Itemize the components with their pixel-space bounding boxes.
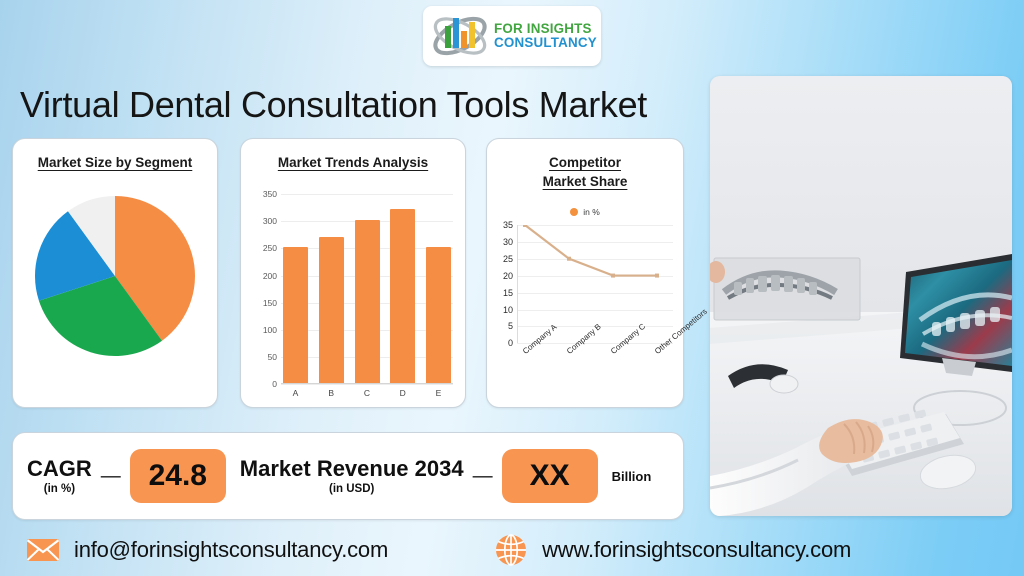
logo-line-2: CONSULTANCY xyxy=(494,36,597,50)
x-tick-label: A xyxy=(283,388,308,398)
cagr-label-block: CAGR (in %) xyxy=(27,457,92,494)
bar-chart-title: Market Trends Analysis xyxy=(241,153,465,172)
pie-chart-svg xyxy=(29,190,201,362)
y-tick-label: 20 xyxy=(493,271,513,281)
y-tick-label: 100 xyxy=(249,325,277,335)
y-tick-label: 200 xyxy=(249,271,277,281)
revenue-label-block: Market Revenue 2034 (in USD) xyxy=(240,457,464,494)
footer-email-text: info@forinsightsconsultancy.com xyxy=(74,537,388,563)
card-competitor-market-share: Competitor Market Share in % 05101520253… xyxy=(486,138,684,408)
y-tick-label: 0 xyxy=(493,338,513,348)
y-tick-label: 10 xyxy=(493,305,513,315)
line-chart: 05101520253035 Company ACompany BCompany… xyxy=(493,225,675,343)
logo-line-1: FOR INSIGHTS xyxy=(494,22,597,36)
revenue-label: Market Revenue 2034 xyxy=(240,457,464,480)
y-tick-label: 25 xyxy=(493,254,513,264)
y-tick-label: 350 xyxy=(249,189,277,199)
bar xyxy=(426,247,451,383)
y-tick-label: 30 xyxy=(493,237,513,247)
bar xyxy=(319,237,344,384)
legend-label: in % xyxy=(583,207,600,217)
line-series-path xyxy=(525,225,657,276)
bar xyxy=(390,209,415,383)
x-tick-label: B xyxy=(319,388,344,398)
hero-photo-illustration xyxy=(710,76,1012,516)
card-market-size-by-segment: Market Size by Segment xyxy=(12,138,218,408)
cagr-sublabel: (in %) xyxy=(27,483,92,495)
card-key-metrics: CAGR (in %) — 24.8 Market Revenue 2034 (… xyxy=(12,432,684,520)
y-tick-label: 50 xyxy=(249,352,277,362)
line-data-point xyxy=(655,274,659,278)
infographic-root: FOR INSIGHTS CONSULTANCY Virtual Dental … xyxy=(0,0,1024,576)
revenue-unit: Billion xyxy=(612,469,652,484)
cagr-dash: — xyxy=(101,465,121,488)
globe-icon xyxy=(494,533,528,567)
line-chart-title: Competitor Market Share xyxy=(487,153,683,191)
hero-photo xyxy=(710,76,1012,516)
y-tick-label: 250 xyxy=(249,243,277,253)
x-tick-label: D xyxy=(390,388,415,398)
card-market-trends-analysis: Market Trends Analysis 05010015020025030… xyxy=(240,138,466,408)
gridline xyxy=(281,384,453,385)
bar-chart-bars xyxy=(283,194,451,383)
footer-email[interactable]: info@forinsightsconsultancy.com xyxy=(26,533,388,567)
y-tick-label: 300 xyxy=(249,216,277,226)
y-tick-label: 150 xyxy=(249,298,277,308)
revenue-sublabel: (in USD) xyxy=(240,483,464,495)
pie-chart xyxy=(13,190,217,362)
bar-chart-orbit-logo-icon xyxy=(429,10,491,62)
bar xyxy=(283,247,308,383)
y-tick-label: 35 xyxy=(493,220,513,230)
y-tick-label: 0 xyxy=(249,379,277,389)
line-data-point xyxy=(611,274,615,278)
footer-website[interactable]: www.forinsightsconsultancy.com xyxy=(494,533,851,567)
bar-chart: 050100150200250300350 ABCDE xyxy=(249,194,455,384)
bar-chart-x-axis xyxy=(281,383,453,384)
page-title: Virtual Dental Consultation Tools Market xyxy=(20,84,647,126)
pie-chart-title: Market Size by Segment xyxy=(13,153,217,172)
line-chart-legend: in % xyxy=(487,207,683,217)
legend-swatch-icon xyxy=(570,208,578,216)
bar-chart-x-labels: ABCDE xyxy=(283,388,451,398)
line-chart-title-line-2: Market Share xyxy=(543,174,628,189)
company-logo: FOR INSIGHTS CONSULTANCY xyxy=(423,6,601,66)
revenue-dash: — xyxy=(473,465,493,488)
footer-website-text: www.forinsightsconsultancy.com xyxy=(542,537,851,563)
y-tick-label: 5 xyxy=(493,321,513,331)
cagr-value-pill: 24.8 xyxy=(130,449,226,503)
cagr-label: CAGR xyxy=(27,457,92,480)
envelope-icon xyxy=(26,533,60,567)
logo-wordmark: FOR INSIGHTS CONSULTANCY xyxy=(494,22,597,50)
x-tick-label: E xyxy=(426,388,451,398)
line-data-point xyxy=(523,225,527,227)
y-tick-label: 15 xyxy=(493,288,513,298)
line-chart-title-line-1: Competitor xyxy=(549,155,621,170)
x-tick-label: C xyxy=(355,388,380,398)
bar xyxy=(355,220,380,383)
line-chart-x-labels: Company ACompany BCompany COther Competi… xyxy=(517,347,675,407)
revenue-value-pill: XX xyxy=(502,449,598,503)
footer: info@forinsightsconsultancy.com www.fori… xyxy=(0,524,1024,576)
line-data-point xyxy=(567,257,571,261)
